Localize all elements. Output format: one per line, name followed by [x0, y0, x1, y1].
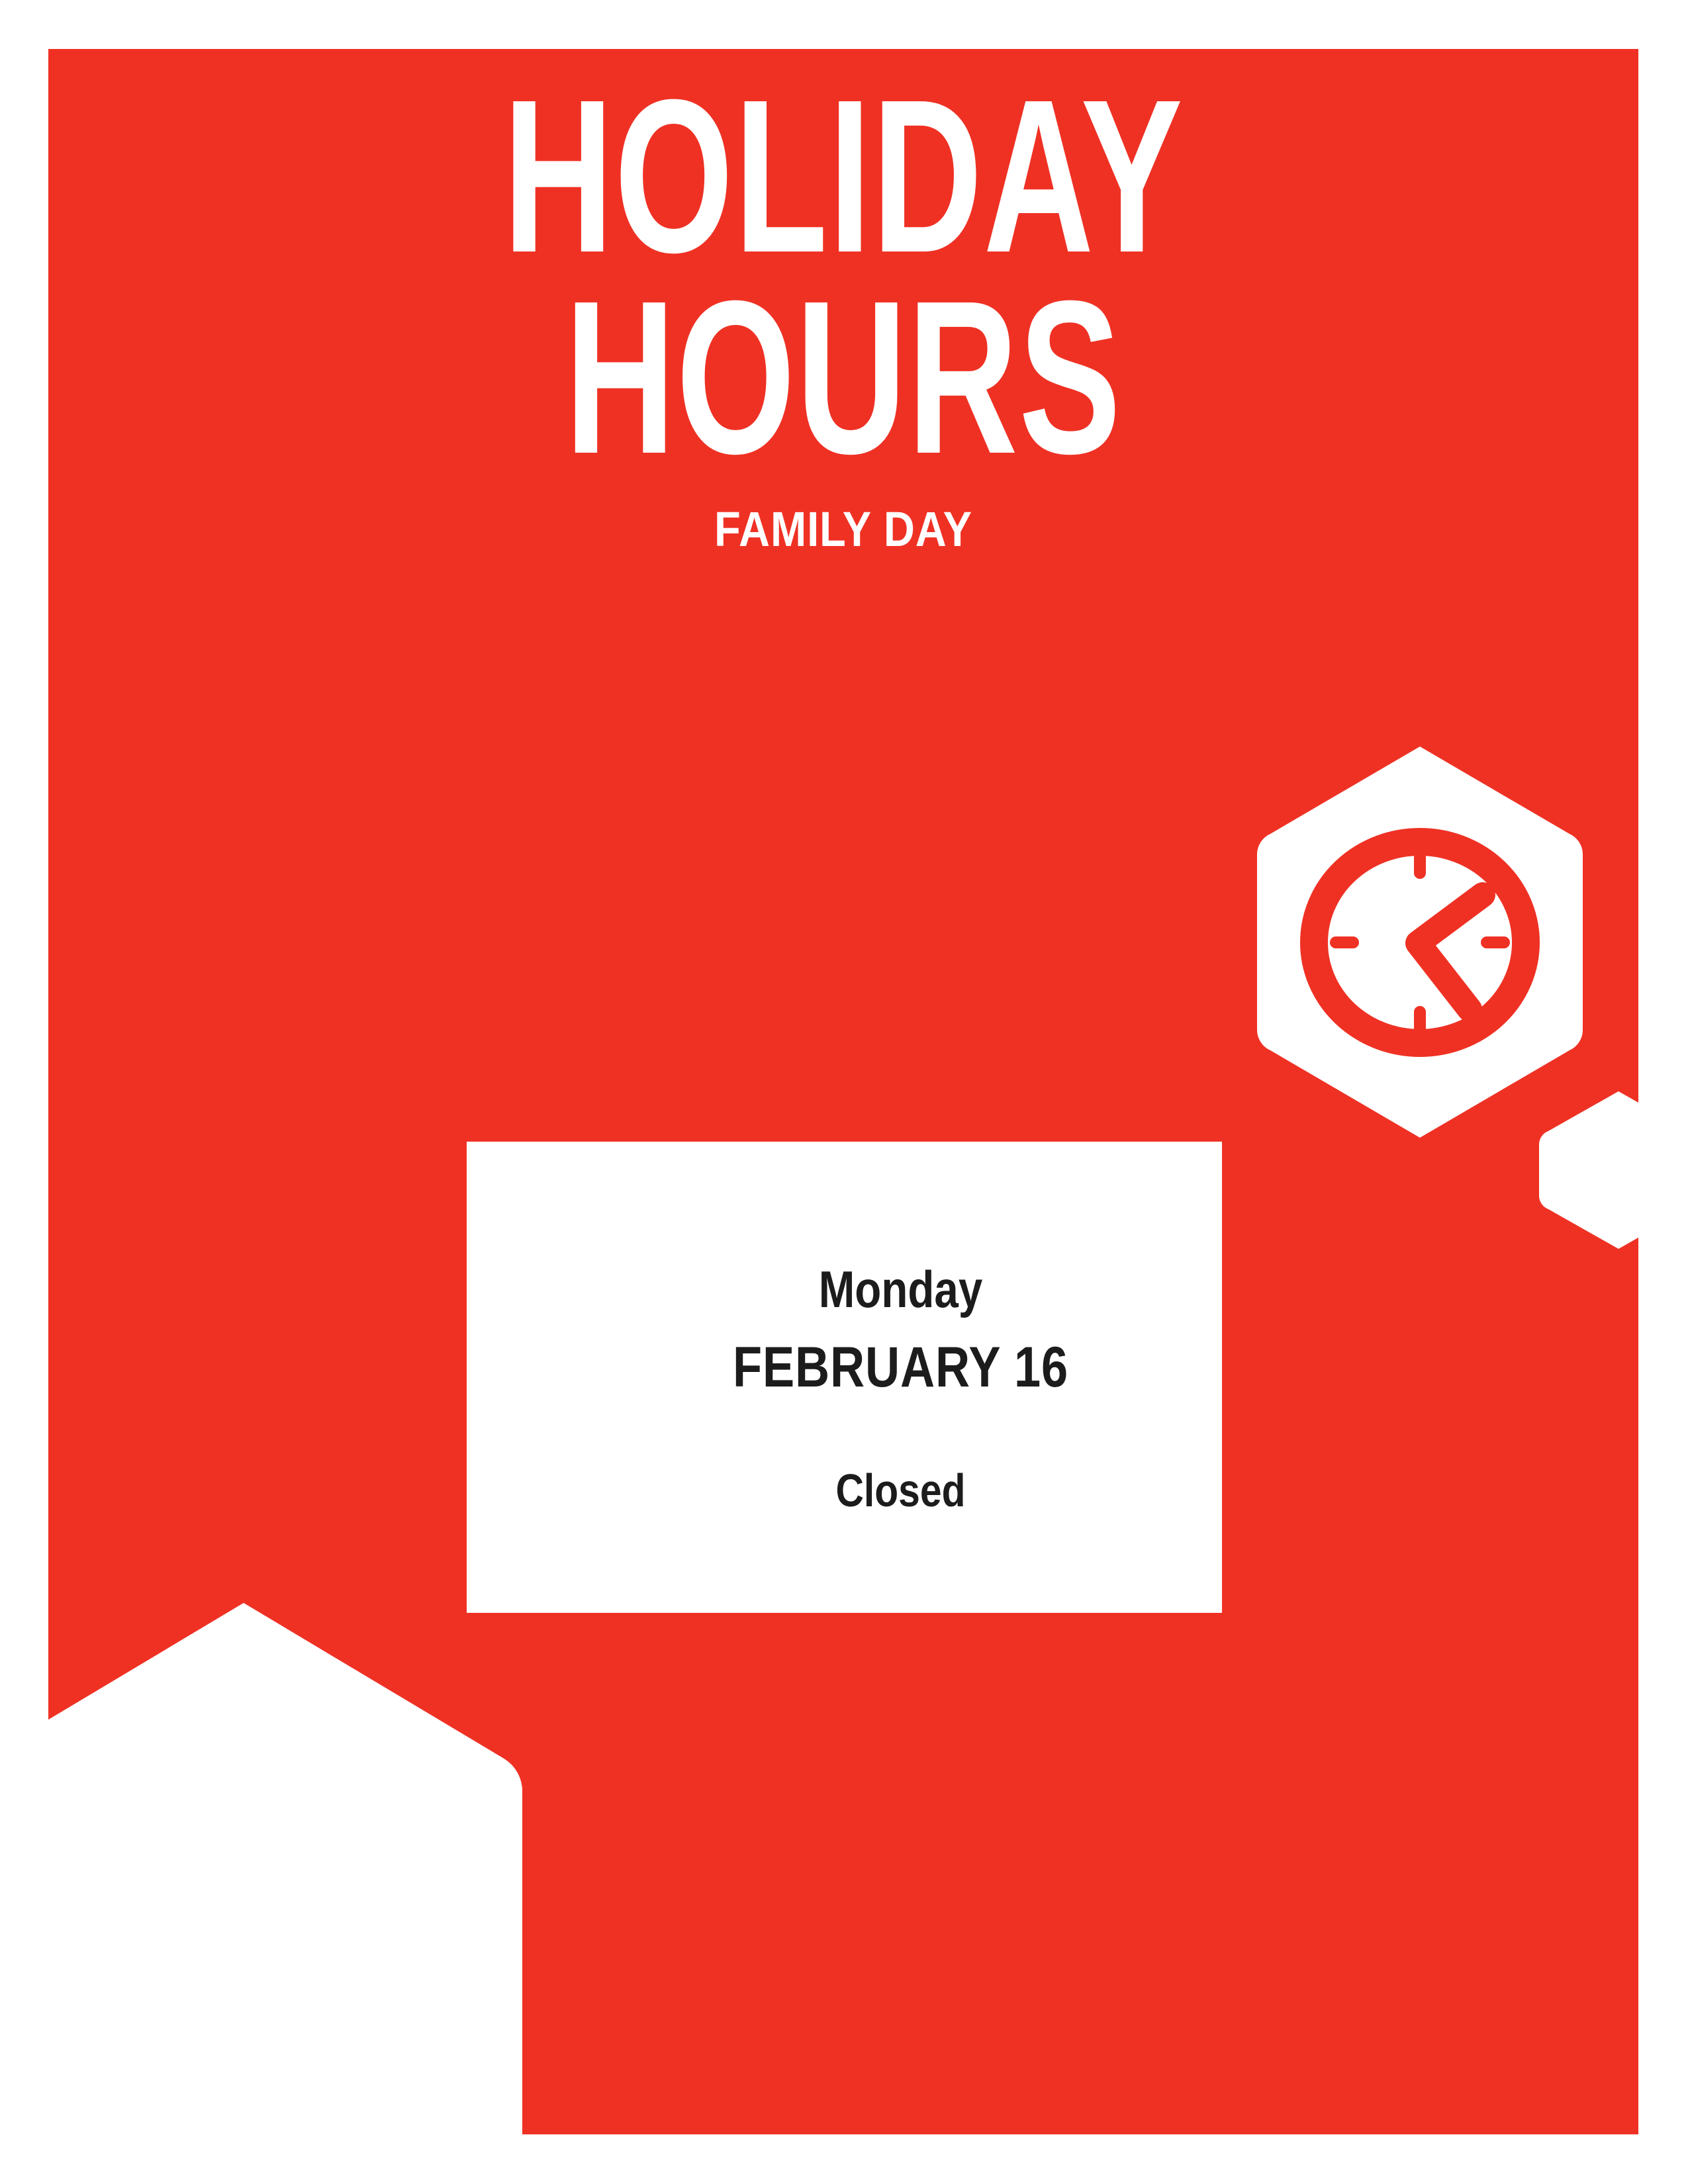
- poster-headline: HOLIDAY HOURS FAMILY DAY: [48, 49, 1638, 557]
- poster-page: HOLIDAY HOURS FAMILY DAY: [0, 0, 1688, 2184]
- clock-hexagon-icon: [1252, 741, 1588, 1143]
- hours-card-weekday: Monday: [631, 1263, 1171, 1315]
- hours-card: Monday FEBRUARY 16 Closed: [467, 1142, 1222, 1613]
- poster-title-line-1: HOLIDAY: [287, 75, 1399, 277]
- poster-canvas: HOLIDAY HOURS FAMILY DAY: [48, 49, 1638, 2134]
- hours-card-status: Closed: [631, 1467, 1171, 1514]
- hours-card-date: FEBRUARY 16: [631, 1339, 1171, 1396]
- poster-title-line-2: HOURS: [287, 277, 1399, 478]
- hexagon-accent-icon: [1532, 1089, 1638, 1251]
- hexagon-accent-large-icon: [48, 1540, 532, 2134]
- poster-subtitle: FAMILY DAY: [144, 501, 1543, 557]
- hours-card-content: Monday FEBRUARY 16 Closed: [467, 1263, 1222, 1514]
